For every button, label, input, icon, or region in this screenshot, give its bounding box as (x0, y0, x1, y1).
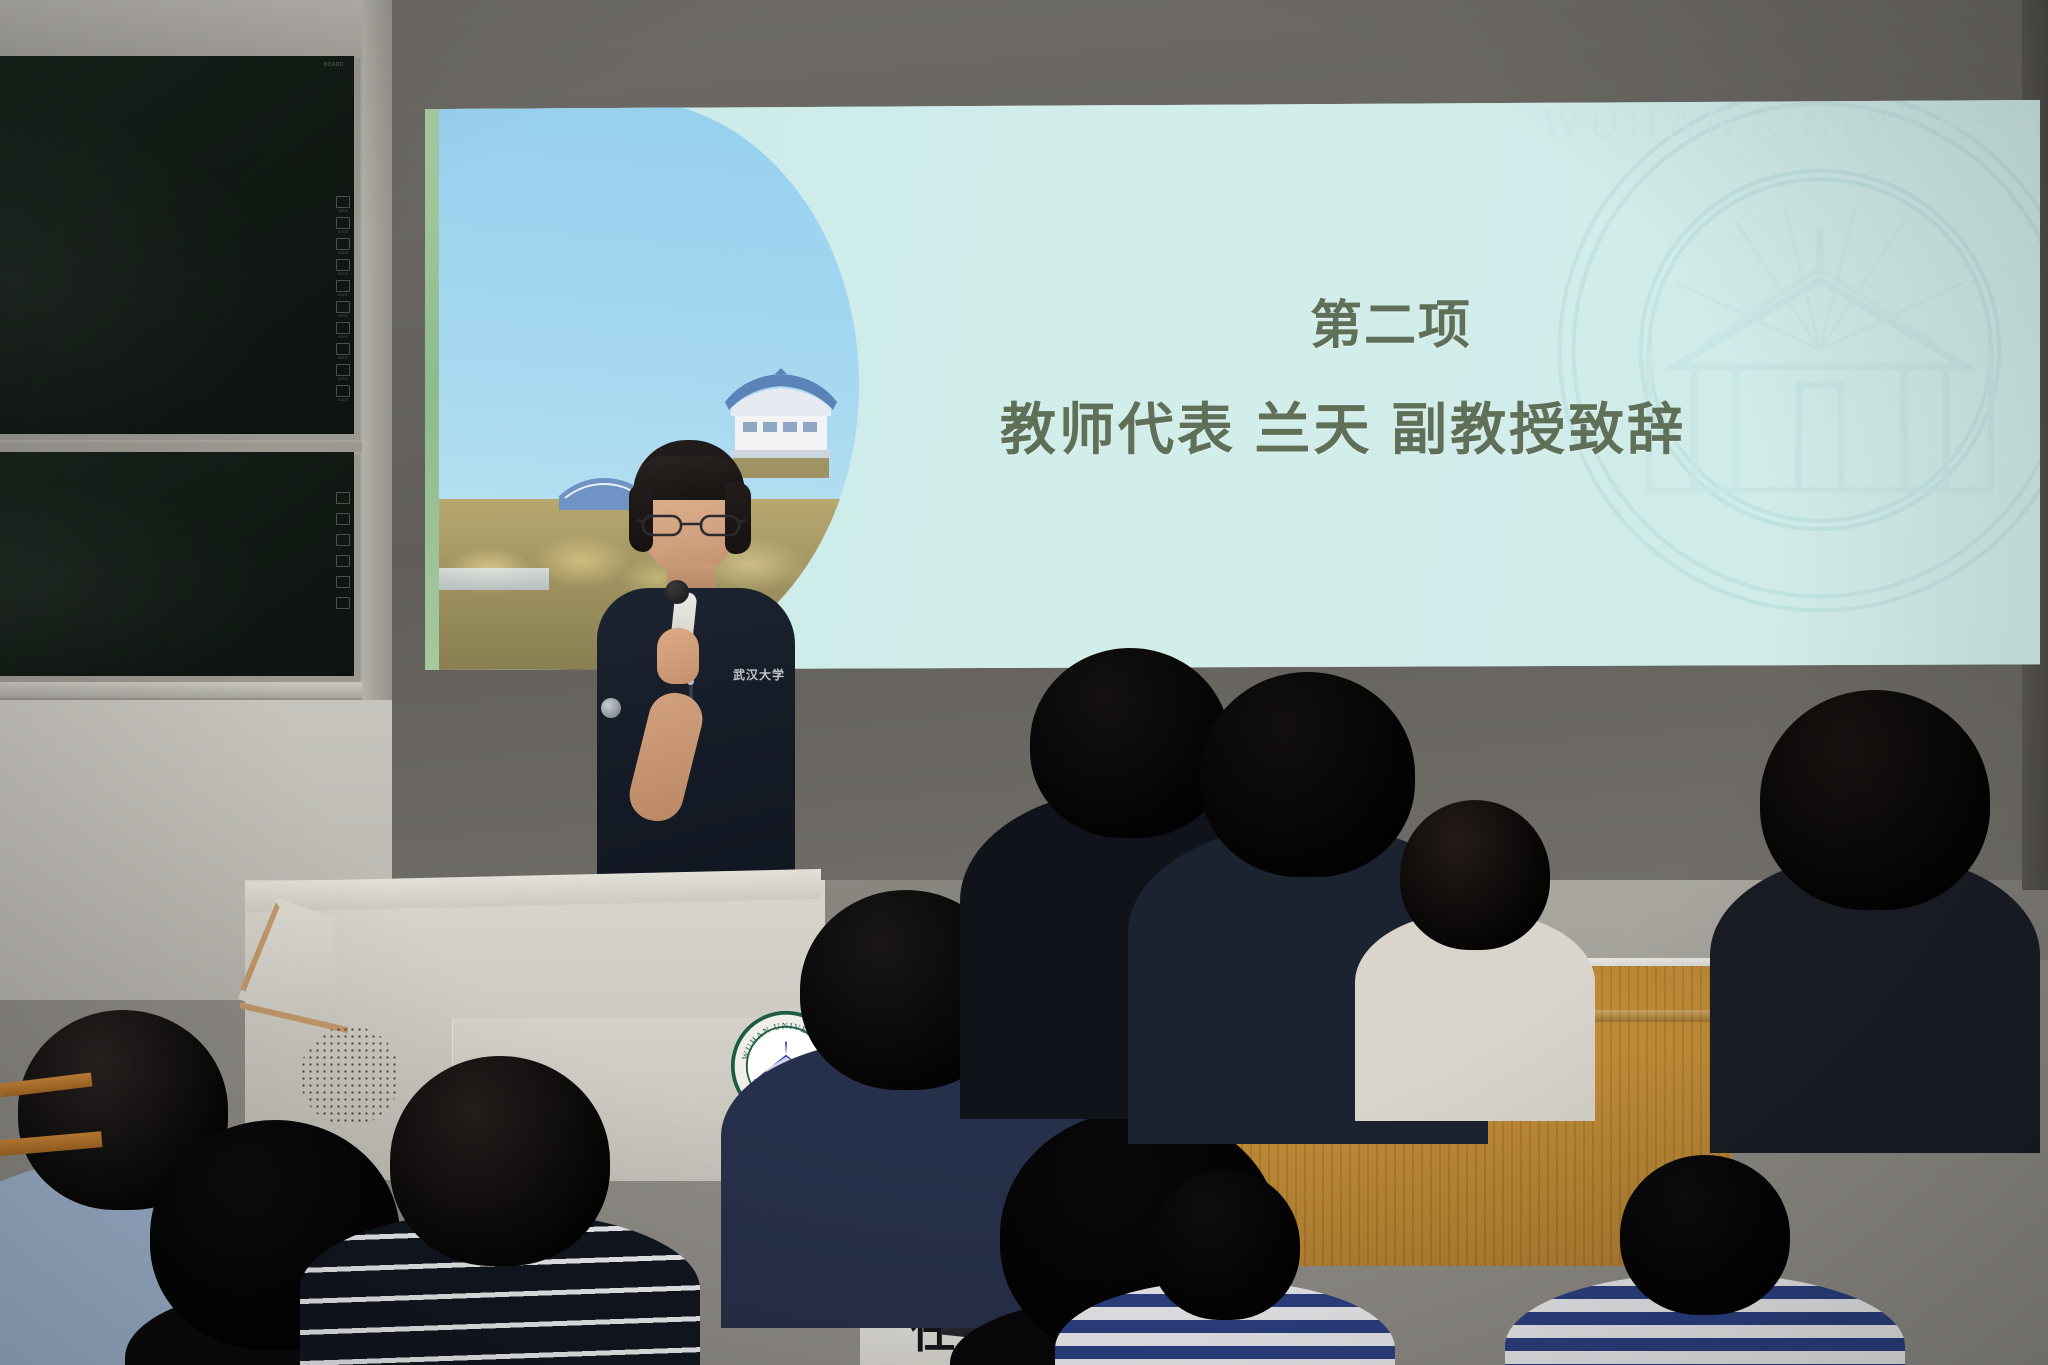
slide-subtitle: 教师代表 兰天 副教授致辞 (1000, 385, 1686, 466)
blackboard-lower (0, 452, 362, 684)
blackboard-control-icon[interactable]: MODE (336, 301, 350, 313)
audience-right-back (1760, 690, 2048, 1210)
photo-balustrade (439, 568, 549, 590)
blackboard-control-label: MODE (338, 314, 349, 318)
blackboard-control-icon[interactable]: MODE (336, 259, 350, 271)
blackboard-control-label: MODE (338, 377, 349, 381)
lecture-hall-scene: BOARD MODE MODE MODE MODE MODE MODE MODE… (0, 0, 2048, 1365)
blackboard-control-icon[interactable] (336, 555, 350, 567)
presenter-shirt-logo: 武汉大学 (733, 666, 785, 683)
blackboard-control-icon[interactable] (336, 492, 350, 504)
blackboard-control-label: MODE (338, 335, 349, 339)
presenter: 武汉大学 (585, 440, 905, 940)
blackboard-glare (0, 452, 354, 676)
audience-white-shirt (1400, 800, 1640, 1160)
wuhan-university-watermark-icon: WUHAN UNIVERSITY (1540, 100, 2040, 630)
audience-striped-tee-left-head (1150, 1170, 1300, 1320)
wall-pillar (362, 0, 392, 700)
blackboard-control-label: MODE (338, 209, 349, 213)
audience-mock-neck-head (1200, 672, 1415, 877)
blackboard-control-icon[interactable]: MODE (336, 217, 350, 229)
blackboard-control-icon[interactable] (336, 597, 350, 609)
blackboard-control-label: MODE (338, 398, 349, 402)
blackboard-control-label: MODE (338, 293, 349, 297)
blackboard-control-column (336, 492, 350, 609)
blackboard-control-icon[interactable]: MODE (336, 196, 350, 208)
blackboard-control-icon[interactable] (336, 513, 350, 525)
chalk-tray (0, 682, 362, 698)
blackboard-control-icon[interactable]: MODE (336, 238, 350, 250)
microphone-head-icon (665, 580, 689, 604)
blackboard-control-label: MODE (338, 356, 349, 360)
audience-right-back-head (1760, 690, 1990, 910)
audience-striped-tee-right (1620, 1155, 2020, 1365)
ceiling-soffit (0, 0, 392, 62)
audience-striped-polo-head (390, 1056, 610, 1266)
blackboard-control-icon[interactable] (336, 576, 350, 588)
blackboard-control-label: MODE (338, 230, 349, 234)
blackboard-control-icon[interactable]: MODE (336, 385, 350, 397)
blackboard-control-icon[interactable] (336, 534, 350, 546)
presenter-sleeve-badge (601, 698, 621, 718)
blackboard-control-icon[interactable]: MODE (336, 322, 350, 334)
blackboard-surface: BOARD MODE MODE MODE MODE MODE MODE MODE… (0, 56, 354, 434)
glasses-icon (637, 512, 747, 538)
blackboard-control-icon[interactable]: MODE (336, 280, 350, 292)
blackboard-control-icon[interactable]: MODE (336, 364, 350, 376)
presenter-hand (657, 628, 699, 684)
blackboard-glare (0, 56, 354, 434)
watermark-text: WUHAN UNIVERSITY (1541, 101, 2040, 147)
audience-striped-tee-left (1150, 1170, 1490, 1365)
blackboard-control-label: MODE (338, 251, 349, 255)
audience-white-shirt-head (1400, 800, 1550, 950)
blackboard-brand-label: BOARD (324, 62, 344, 68)
audience-striped-tee-right-head (1620, 1155, 1790, 1315)
blackboard-control-icon[interactable]: MODE (336, 343, 350, 355)
blackboard-surface (0, 452, 354, 676)
slide-title: 第二项 (1310, 283, 1472, 358)
blackboard-upper: BOARD MODE MODE MODE MODE MODE MODE MODE… (0, 56, 362, 442)
blackboard-control-label: MODE (338, 272, 349, 276)
blackboard-control-column: MODE MODE MODE MODE MODE MODE MODE MODE … (336, 196, 350, 397)
